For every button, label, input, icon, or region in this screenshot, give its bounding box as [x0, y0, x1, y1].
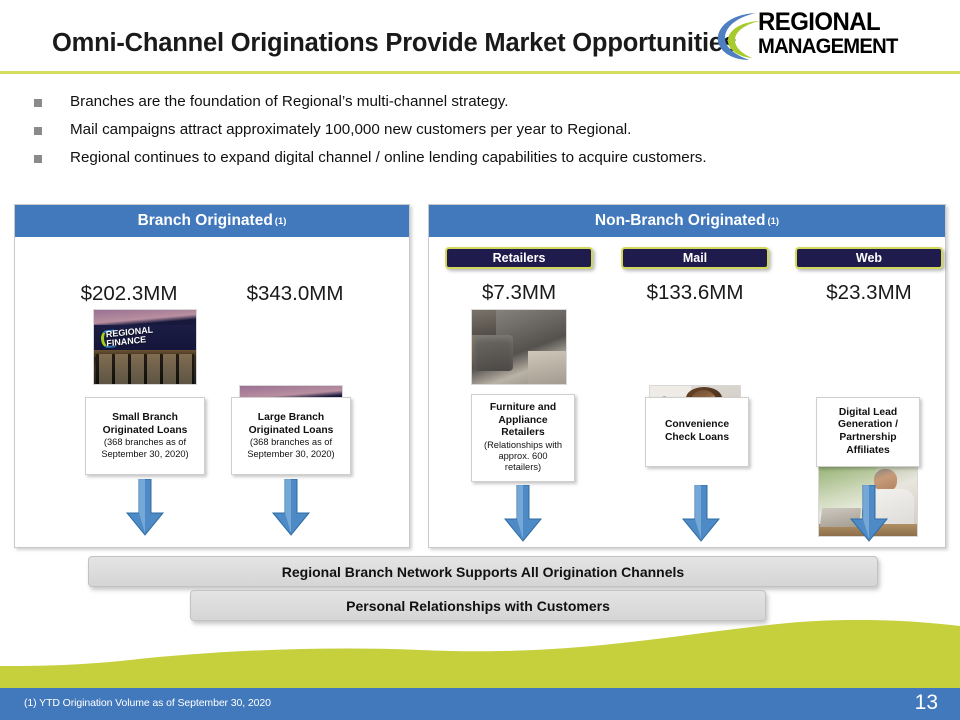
panel-non-branch-originated: Non-Branch Originated(1) Retailers $7.3M…	[428, 204, 946, 548]
arrow-down-large-branch-icon	[271, 479, 311, 537]
panel-nonbranch-header: Non-Branch Originated(1)	[429, 205, 945, 237]
panel-branch-originated: Branch Originated(1) $202.3MM REGIONALFI…	[14, 204, 410, 548]
panel-branch-header-label: Branch Originated	[138, 212, 273, 230]
panel-branch-footnote-marker: (1)	[275, 216, 287, 227]
caption-mail-title: ConvenienceCheck Loans	[665, 419, 729, 444]
page-title: Omni-Channel Originations Provide Market…	[52, 29, 737, 58]
caption-small-branch: Small BranchOriginated Loans (368 branch…	[85, 397, 205, 475]
caption-small-branch-sub: (368 branches as ofSeptember 30, 2020)	[101, 437, 188, 460]
photo-furniture-retailers	[471, 309, 567, 385]
caption-retailers-title: Furniture andApplianceRetailers	[490, 402, 556, 440]
caption-mail: ConvenienceCheck Loans	[645, 397, 749, 467]
caption-large-branch-sub: (368 branches as ofSeptember 30, 2020)	[247, 437, 334, 460]
bullet-text: Regional continues to expand digital cha…	[70, 148, 707, 167]
caption-retailers-sub: (Relationships withapprox. 600retailers)	[484, 440, 562, 474]
amount-mail: $133.6MM	[621, 281, 769, 305]
footnote-text: (1) YTD Origination Volume as of Septemb…	[24, 697, 271, 709]
pill-mail[interactable]: Mail	[621, 247, 769, 269]
arrow-down-small-branch-icon	[125, 479, 165, 537]
caption-web-title: Digital LeadGeneration /PartnershipAffil…	[838, 407, 898, 457]
support-bar-personal-relationships: Personal Relationships with Customers	[190, 590, 766, 621]
brand-line1: REGIONAL	[758, 10, 904, 35]
panel-nonbranch-header-label: Non-Branch Originated	[595, 212, 766, 230]
brand-line2: MANAGEMENT	[758, 36, 901, 58]
bullet-text: Branches are the foundation of Regional’…	[70, 92, 508, 111]
slide-header: Omni-Channel Originations Provide Market…	[0, 0, 960, 76]
caption-retailers: Furniture andApplianceRetailers (Relatio…	[471, 394, 575, 482]
support-bar-branch-network: Regional Branch Network Supports All Ori…	[88, 556, 878, 587]
amount-web: $23.3MM	[795, 281, 943, 305]
bullet-item: Regional continues to expand digital cha…	[34, 148, 894, 167]
panel-branch-header: Branch Originated(1)	[15, 205, 409, 237]
page-number: 13	[915, 691, 938, 715]
bullet-square-icon	[34, 99, 42, 107]
brand-wordmark: REGIONAL MANAGEMENT	[758, 10, 910, 58]
photo-small-branch-storefront: REGIONALFINANCE	[93, 309, 197, 385]
bullet-item: Branches are the foundation of Regional’…	[34, 92, 894, 111]
title-divider-rule	[0, 71, 960, 74]
arrow-down-mail-icon	[681, 485, 721, 543]
bullet-square-icon	[34, 155, 42, 163]
bullet-square-icon	[34, 127, 42, 135]
caption-large-branch: Large BranchOriginated Loans (368 branch…	[231, 397, 351, 475]
bullet-list: Branches are the foundation of Regional’…	[34, 92, 894, 176]
caption-web: Digital LeadGeneration /PartnershipAffil…	[816, 397, 920, 467]
bullet-text: Mail campaigns attract approximately 100…	[70, 120, 631, 139]
arrow-down-retailers-icon	[503, 485, 543, 543]
pill-web[interactable]: Web	[795, 247, 943, 269]
bullet-item: Mail campaigns attract approximately 100…	[34, 120, 894, 139]
pill-retailers[interactable]: Retailers	[445, 247, 593, 269]
caption-large-branch-title: Large BranchOriginated Loans	[249, 412, 334, 437]
amount-large-branch: $343.0MM	[197, 282, 393, 306]
regional-management-logo: REGIONAL MANAGEMENT	[716, 8, 912, 64]
caption-small-branch-title: Small BranchOriginated Loans	[103, 412, 188, 437]
amount-retailers: $7.3MM	[445, 281, 593, 305]
panel-nonbranch-footnote-marker: (1)	[767, 216, 779, 227]
arrow-down-web-icon	[849, 485, 889, 543]
